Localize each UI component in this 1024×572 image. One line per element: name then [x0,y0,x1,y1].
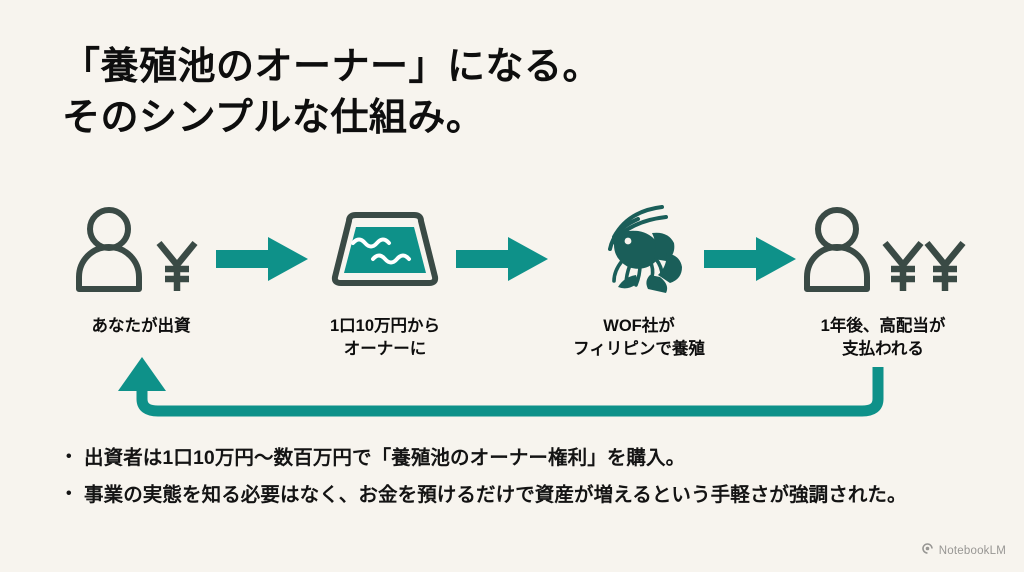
slide-canvas: 「養殖池のオーナー」になる。 そのシンプルな仕組み。 あなたが出資 [0,0,1024,572]
flow-step-1: あなたが出資 [41,205,241,338]
flow-step-4: 1年後、高配当が 支払われる [783,205,983,361]
list-item: • 事業の実態を知る必要はなく、お金を預けるだけで資産が増えるという手軽さが強調… [66,480,1006,510]
fish-pond-icon [285,205,485,293]
list-item: • 出資者は1口10万円〜数百万円で「養殖池のオーナー権利」を購入。 [66,443,1006,473]
bullet-text: 出資者は1口10万円〜数百万円で「養殖池のオーナー権利」を購入。 [84,443,1006,473]
flow-step-4-label: 1年後、高配当が [783,315,983,338]
title-line-2: そのシンプルな仕組み。 [62,93,942,144]
title-line-1: 「養殖池のオーナー」になる。 [62,42,942,93]
bullet-marker-icon: • [66,443,84,471]
notebooklm-watermark: NotebookLM [921,542,1006,560]
person-yen-icon [41,205,241,293]
flow-diagram: あなたが出資 1口10万円から オーナーに [0,205,1024,380]
flow-step-1-label: あなたが出資 [41,315,241,338]
bullet-marker-icon: • [66,480,84,508]
notebooklm-logo-icon [921,542,934,560]
person-double-yen-icon [783,205,983,293]
notebooklm-label: NotebookLM [939,545,1006,557]
arrow-right-icon-2 [456,235,548,283]
bullet-list: • 出資者は1口10万円〜数百万円で「養殖池のオーナー権利」を購入。 • 事業の… [66,443,1006,517]
loop-arrow-back-icon [0,355,1024,430]
bullet-text: 事業の実態を知る必要はなく、お金を預けるだけで資産が増えるという手軽さが強調され… [84,480,1006,510]
flow-step-2: 1口10万円から オーナーに [285,205,485,361]
flow-step-3-label: WOF社が [539,315,739,338]
page-title: 「養殖池のオーナー」になる。 そのシンプルな仕組み。 [62,42,942,144]
flow-step-2-label: 1口10万円から [285,315,485,338]
